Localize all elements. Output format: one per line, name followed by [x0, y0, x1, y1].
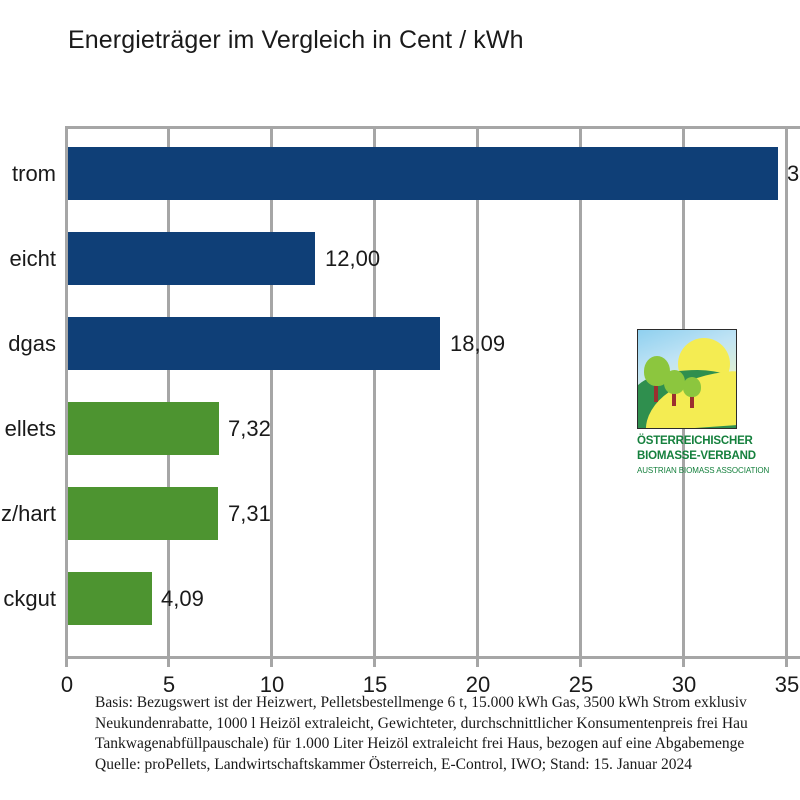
- footnote: Basis: Bezugswert ist der Heizwert, Pell…: [95, 693, 800, 775]
- x-tick-label-0: 0: [61, 672, 73, 698]
- category-label-strom: trom: [12, 147, 56, 200]
- bar-value-strom: 3: [787, 147, 799, 200]
- tick-mark-30: [682, 659, 685, 667]
- biomasse-verband-logo: ÖSTERREICHISCHER BIOMASSE-VERBAND AUSTRI…: [637, 329, 745, 475]
- tick-mark-20: [476, 659, 479, 667]
- plot-top-border: [65, 126, 800, 129]
- bar-value-erdgas: 18,09: [450, 317, 505, 370]
- logo-text-line-3: AUSTRIAN BIOMASS ASSOCIATION: [637, 466, 745, 475]
- footnote-line-1: Basis: Bezugswert ist der Heizwert, Pell…: [95, 693, 800, 714]
- tick-mark-25: [579, 659, 582, 667]
- tick-mark-5: [167, 659, 170, 667]
- gridline-35: [785, 126, 788, 656]
- gridline-20: [476, 126, 479, 656]
- footnote-line-2: Neukundenrabatte, 1000 l Heizöl extralei…: [95, 714, 800, 735]
- footnote-line-4: Quelle: proPellets, Landwirtschaftskamme…: [95, 755, 800, 776]
- bar-erdgas[interactable]: [68, 317, 440, 370]
- logo-tree-icon-3: [683, 377, 701, 397]
- gridline-25: [579, 126, 582, 656]
- tick-mark-15: [373, 659, 376, 667]
- bar-stueckholz-hart[interactable]: [68, 487, 218, 540]
- footnote-line-3: Tankwagenabfüllpauschale) für 1.000 Lite…: [95, 734, 800, 755]
- logo-text-line-2: BIOMASSE-VERBAND: [637, 449, 745, 464]
- logo-tree-icon-2: [664, 370, 685, 394]
- bar-value-pellets: 7,32: [228, 402, 271, 455]
- tick-mark-10: [270, 659, 273, 667]
- tick-mark-35: [785, 659, 788, 667]
- bar-pellets[interactable]: [68, 402, 219, 455]
- bar-value-heizoel: 12,00: [325, 232, 380, 285]
- category-label-heizoel: eicht: [10, 232, 56, 285]
- chart-title: Energieträger im Vergleich in Cent / kWh: [68, 26, 524, 55]
- category-label-pellets: ellets: [5, 402, 56, 455]
- category-label-stueckholz-hart: z/hart: [1, 487, 56, 540]
- category-label-erdgas: dgas: [8, 317, 56, 370]
- logo-text-line-1: ÖSTERREICHISCHER: [637, 434, 745, 449]
- gridline-10: [270, 126, 273, 656]
- bar-heizoel[interactable]: [68, 232, 315, 285]
- bar-hackgut[interactable]: [68, 572, 152, 625]
- category-label-hackgut: ckgut: [3, 572, 56, 625]
- bar-value-hackgut: 4,09: [161, 572, 204, 625]
- x-axis-line: [65, 656, 800, 659]
- tick-mark-0: [65, 659, 68, 667]
- bar-strom[interactable]: [68, 147, 778, 200]
- gridline-15: [373, 126, 376, 656]
- logo-landscape-illustration: [637, 329, 737, 429]
- bar-value-stueckholz-hart: 7,31: [228, 487, 271, 540]
